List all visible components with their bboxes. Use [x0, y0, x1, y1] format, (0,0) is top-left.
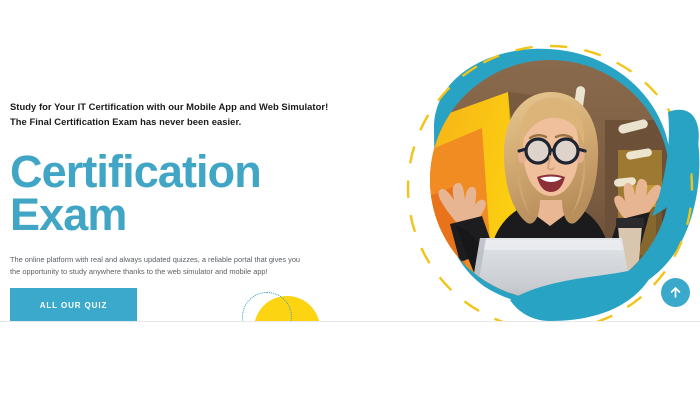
hero-text-column: Study for Your IT Certification with our… — [10, 100, 330, 279]
page-title-line-2: Exam — [10, 193, 330, 236]
page-title: Certification Exam — [10, 129, 330, 236]
arrow-up-icon — [669, 286, 682, 299]
all-our-quiz-button[interactable]: ALL OUR QUIZ — [10, 288, 137, 322]
page-bottom-whitespace — [0, 322, 700, 400]
hero-description-text: The online platform with real and always… — [10, 237, 310, 280]
page-title-line-1: Certification — [10, 150, 330, 193]
hero-artwork — [390, 0, 700, 321]
scroll-to-top-button[interactable] — [661, 278, 690, 307]
hero-section: Study for Your IT Certification with our… — [0, 0, 700, 322]
hero-eyebrow-text: Study for Your IT Certification with our… — [10, 100, 330, 129]
